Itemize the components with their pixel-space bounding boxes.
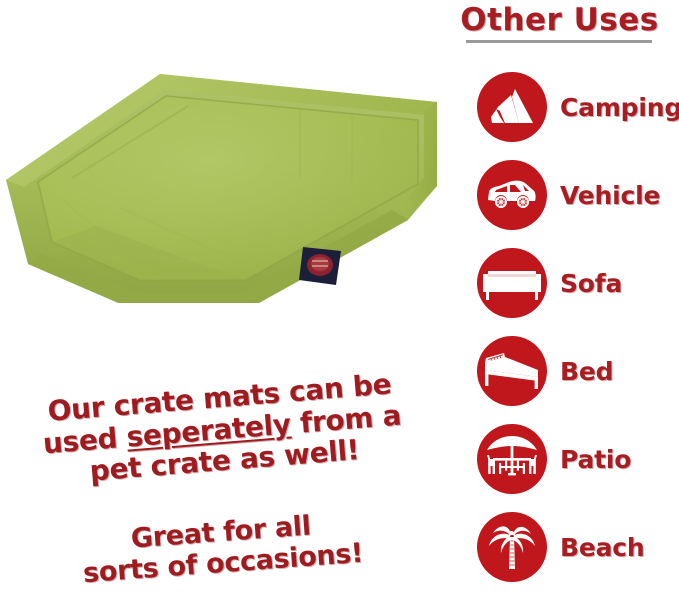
use-label-camping: Camping: [560, 93, 679, 122]
use-label-vehicle: Vehicle: [560, 181, 660, 210]
uses-list: Camping Vehicle: [440, 63, 679, 591]
use-row-vehicle[interactable]: Vehicle: [440, 151, 679, 239]
tent-icon: [477, 72, 547, 142]
use-row-patio[interactable]: Patio: [440, 415, 679, 503]
sofa-icon: [477, 248, 547, 318]
product-photo: [0, 58, 440, 303]
promo-text-occasions: Great for all sorts of occasions!: [50, 506, 394, 592]
use-row-beach[interactable]: Beach: [440, 503, 679, 591]
promo-text-separate-use: Our crate mats can be used seperately fr…: [29, 367, 415, 492]
use-row-camping[interactable]: Camping: [440, 63, 679, 151]
use-row-bed[interactable]: Bed: [440, 327, 679, 415]
crate-mat-image: [0, 58, 440, 303]
other-uses-panel: Other Uses Camping: [440, 0, 679, 593]
use-row-sofa[interactable]: Sofa: [440, 239, 679, 327]
use-label-sofa: Sofa: [560, 269, 622, 298]
palm-tree-icon: [477, 512, 547, 582]
use-label-beach: Beach: [560, 533, 645, 562]
crate-mat-illustration: [0, 58, 440, 303]
patio-umbrella-icon: [477, 424, 547, 494]
use-label-bed: Bed: [560, 357, 613, 386]
left-panel: Our crate mats can be used seperately fr…: [0, 0, 440, 593]
other-uses-title: Other Uses: [440, 2, 679, 38]
bed-icon: [477, 336, 547, 406]
vehicle-icon: [477, 160, 547, 230]
brand-tag: [299, 247, 341, 285]
use-label-patio: Patio: [560, 445, 631, 474]
title-divider: [466, 40, 652, 43]
